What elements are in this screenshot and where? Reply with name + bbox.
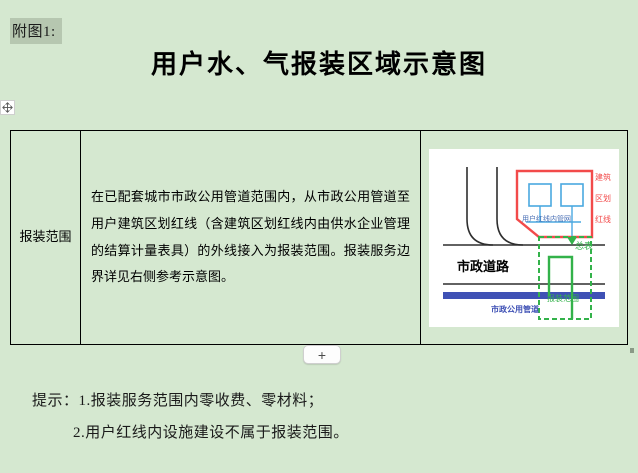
attachment-label: 附图1: xyxy=(10,18,62,44)
table-cell-diagram: 建筑 区划 红线 用户红线内管网 总表 报装范围 市政道路 市政公用管道 xyxy=(421,131,627,344)
table-move-handle[interactable] xyxy=(0,100,15,115)
scope-description-paragraph: 在已配套城市市政公用管道范围内，从市政公用管道至用户建筑区划红线（含建筑区划红线… xyxy=(91,184,410,291)
scope-schematic-image: 建筑 区划 红线 用户红线内管网 总表 报装范围 市政道路 市政公用管道 xyxy=(429,149,619,327)
label-red-line-3: 红线 xyxy=(595,214,611,224)
note-line-1: 提示：1.报装服务范围内零收费、零材料； xyxy=(32,386,612,418)
page-title: 用户水、气报装区域示意图 xyxy=(0,44,638,81)
move-cross-icon xyxy=(2,102,13,113)
schematic-svg: 建筑 区划 红线 用户红线内管网 总表 报装范围 市政道路 市政公用管道 xyxy=(429,149,619,327)
scope-table: 报装范围 在已配套城市市政公用管道范围内，从市政公用管道至用户建筑区划红线（含建… xyxy=(10,130,628,345)
table-cell-scope-text: 在已配套城市市政公用管道范围内，从市政公用管道至用户建筑区划红线（含建筑区划红线… xyxy=(81,131,421,344)
label-meter: 总表 xyxy=(575,240,593,251)
add-row-button[interactable]: + xyxy=(303,345,341,364)
note-line-2: 2.用户红线内设施建设不属于报装范围。 xyxy=(32,418,612,450)
notes-section: 提示：1.报装服务范围内零收费、零材料； 2.用户红线内设施建设不属于报装范围。 xyxy=(32,386,612,449)
table-cell-scope-label: 报装范围 xyxy=(11,131,81,344)
label-road: 市政道路 xyxy=(457,259,510,274)
label-red-line-2: 区划 xyxy=(595,193,611,203)
label-pipe: 市政公用管道 xyxy=(491,304,539,314)
margin-marker xyxy=(630,348,634,353)
municipal-pipe-bar xyxy=(443,292,605,299)
label-scope: 报装范围 xyxy=(547,293,579,303)
label-red-line-1: 建筑 xyxy=(595,172,611,182)
label-inner-network: 用户红线内管网 xyxy=(522,214,571,223)
